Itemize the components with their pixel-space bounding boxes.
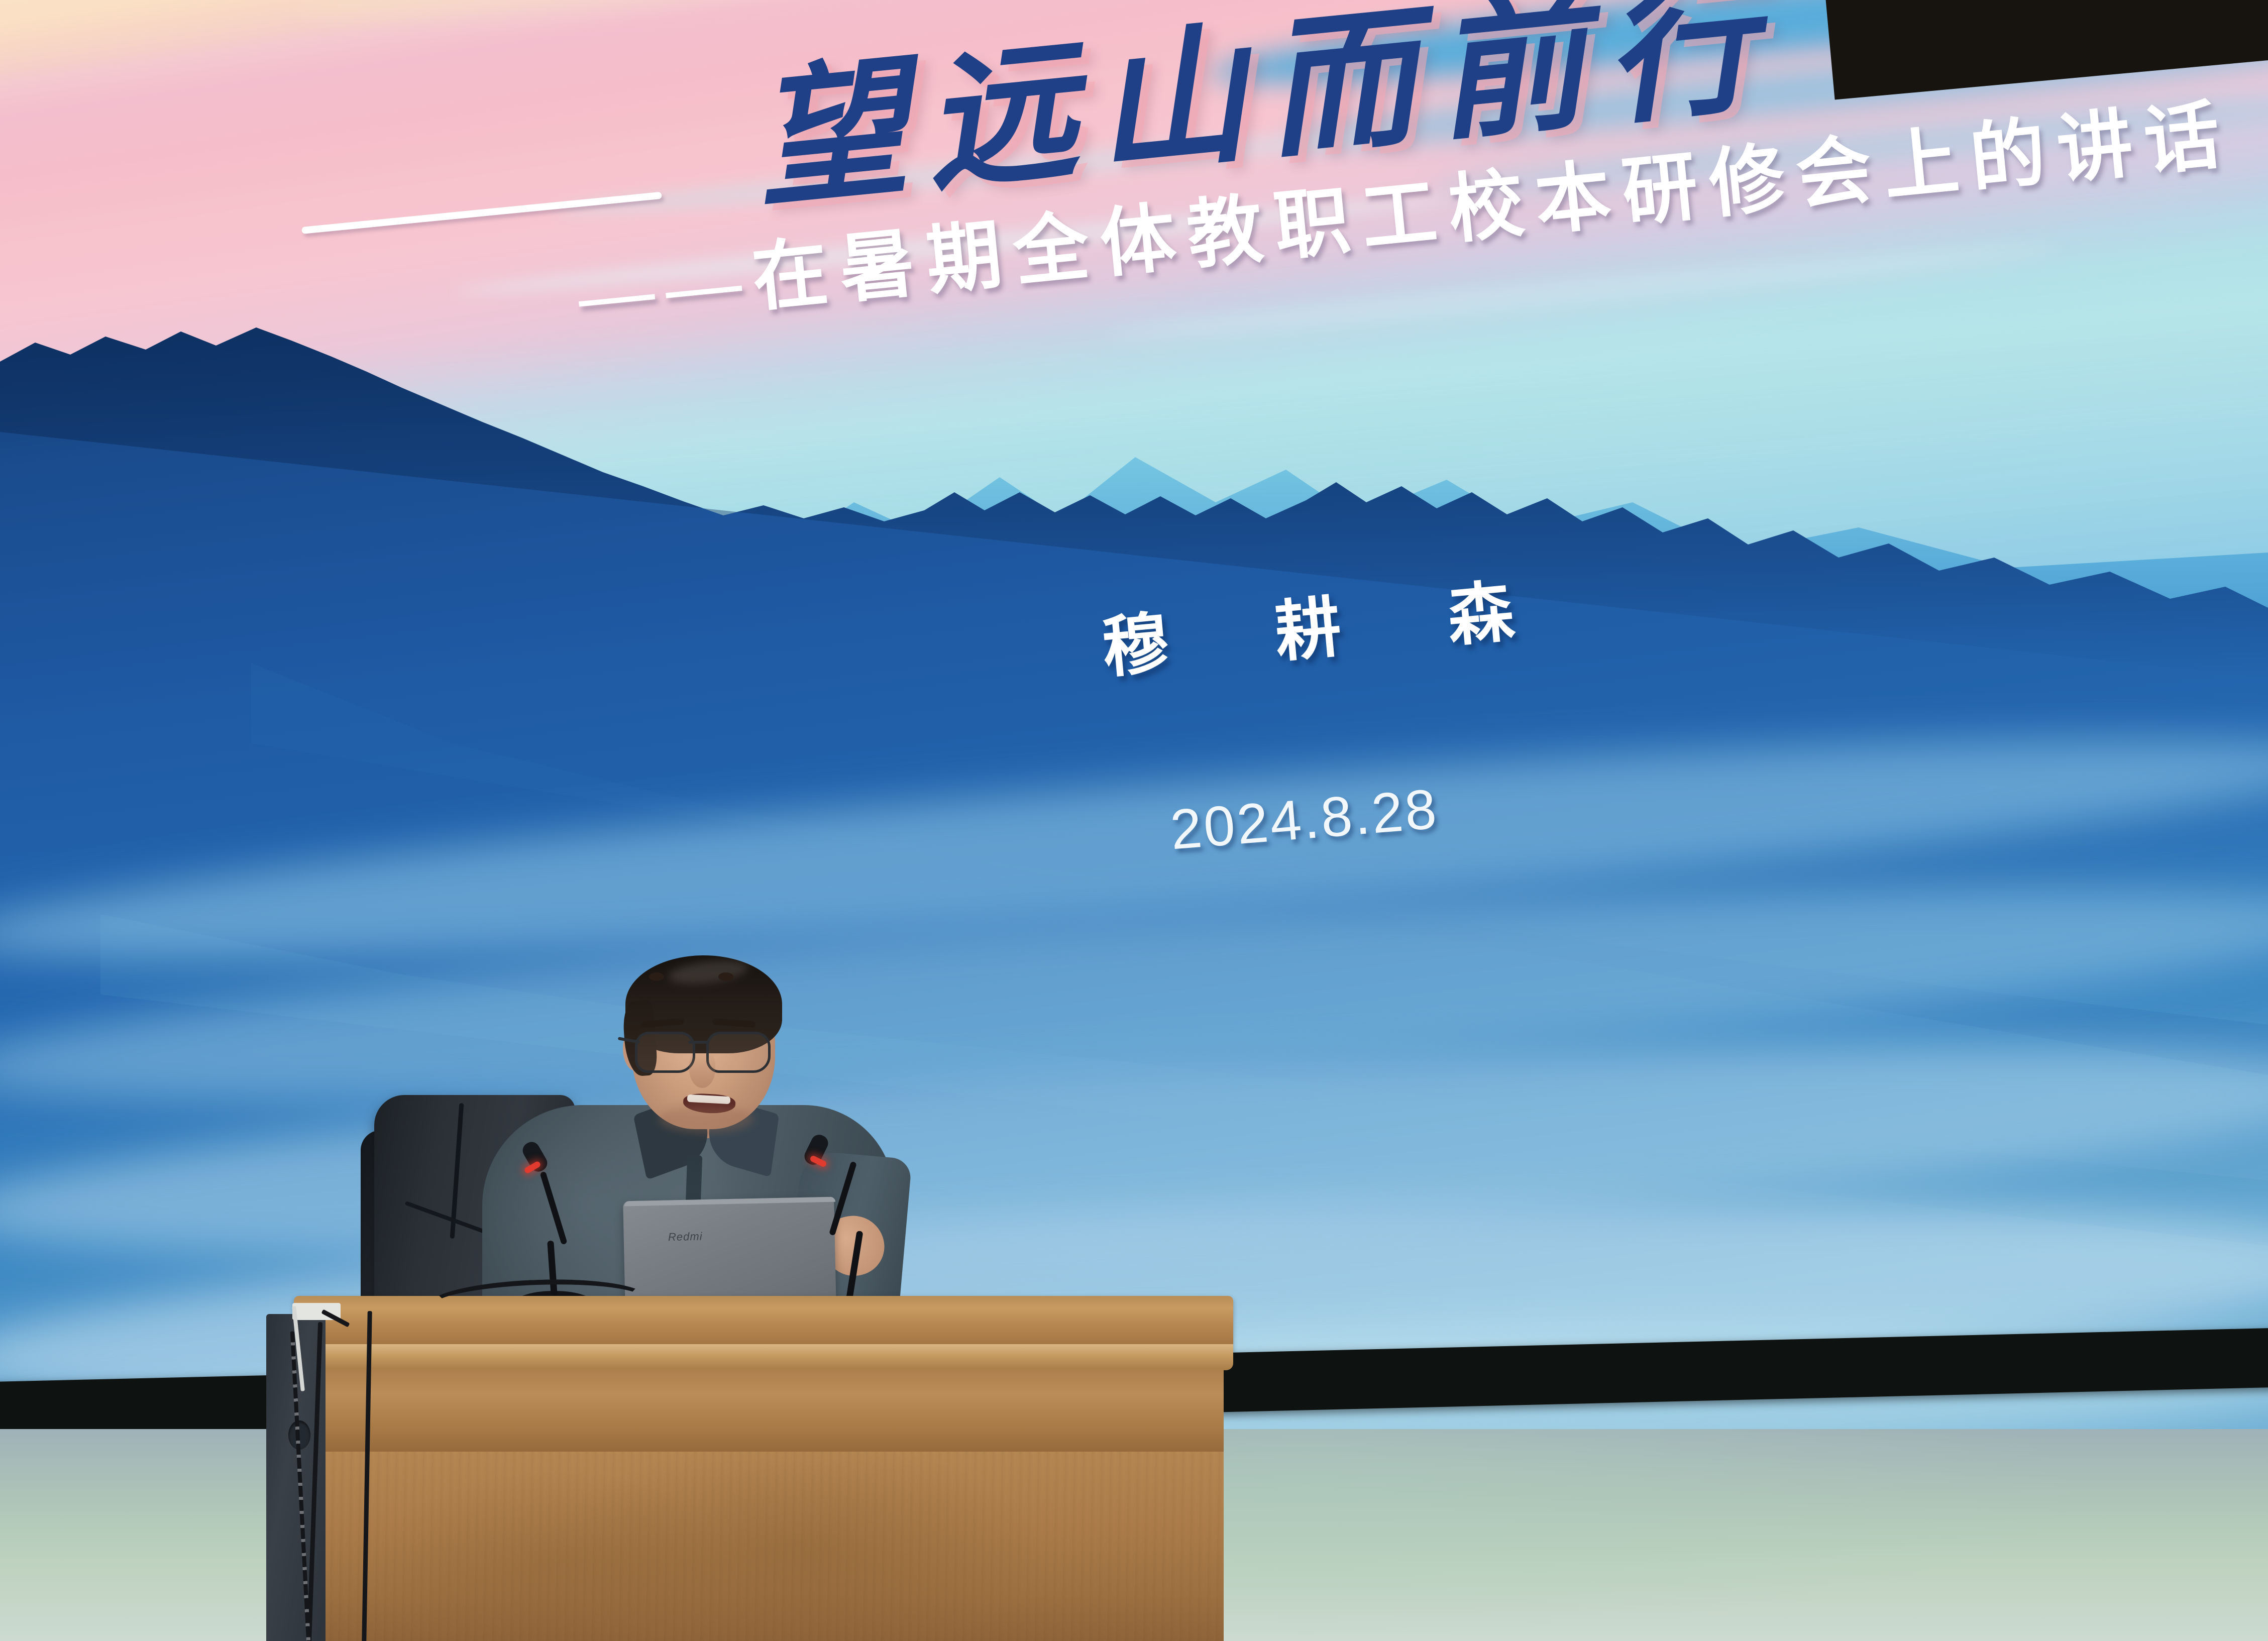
lectern-front-panel <box>305 1452 1224 1641</box>
lectern-front-lip <box>294 1344 1233 1370</box>
screen-text-layer: 望远山而前行 ——在暑期全体教职工校本研修会上的讲话 穆 耕 森 2024.8.… <box>0 0 2268 1432</box>
subtitle-rule-line <box>301 192 662 234</box>
lectern <box>266 1296 1236 1641</box>
lectern-upper-panel <box>305 1369 1224 1453</box>
eye-right <box>718 972 733 981</box>
led-screen-backdrop: 望远山而前行 ——在暑期全体教职工校本研修会上的讲话 穆 耕 森 2024.8.… <box>0 0 2268 1432</box>
presenter-nose <box>689 1050 715 1088</box>
slide-date: 2024.8.28 <box>1168 776 1441 862</box>
slide-speaker-name: 穆 耕 森 <box>1098 554 1563 691</box>
glasses-lens-left <box>635 1032 695 1073</box>
eye-left <box>649 972 664 981</box>
glasses-bridge <box>688 1041 709 1044</box>
chin-shadow <box>658 1105 753 1133</box>
glasses-lens-right <box>706 1032 771 1073</box>
photo-scene: 望远山而前行 ——在暑期全体教职工校本研修会上的讲话 穆 耕 森 2024.8.… <box>0 0 2268 1641</box>
laptop-brand-label: Redmi <box>668 1229 769 1244</box>
